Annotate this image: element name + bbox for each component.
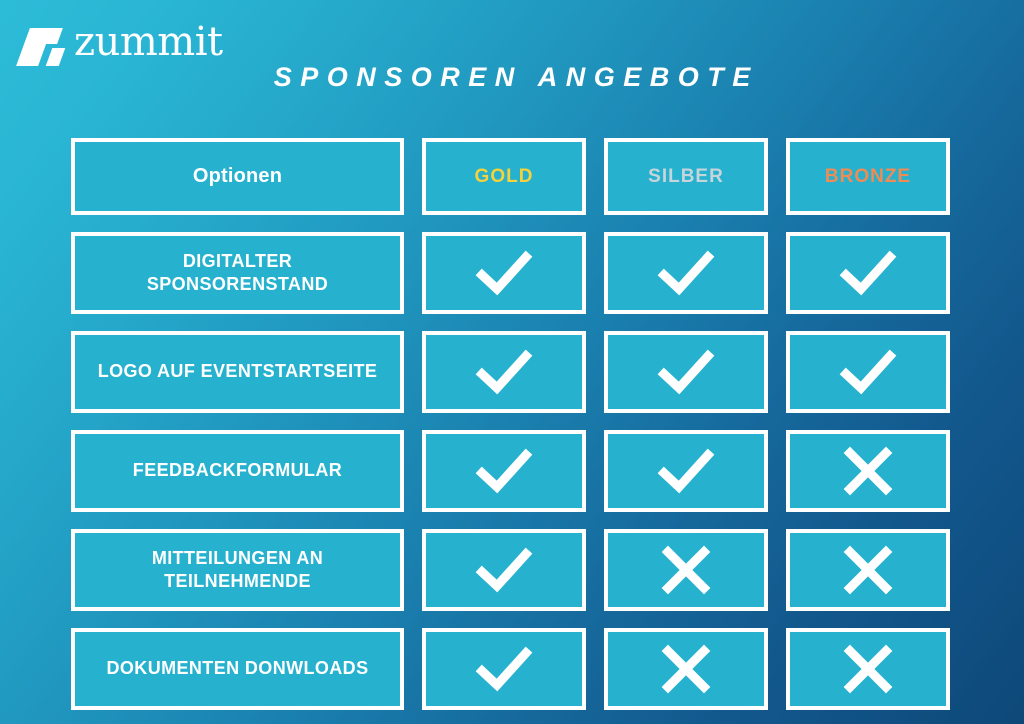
check-icon [473, 445, 535, 497]
availability-cell-gold[interactable] [422, 331, 586, 413]
check-icon [655, 346, 717, 398]
availability-cell-bronze[interactable] [786, 529, 950, 611]
header-label-bronze: BRONZE [825, 166, 911, 188]
table-row: LOGO AUF EVENTSTARTSEITE [71, 331, 978, 413]
check-icon [655, 247, 717, 299]
sponsor-offers-slide: zummit SPONSOREN ANGEBOTE OptionenGOLDSI… [0, 0, 1024, 724]
page-title: SPONSOREN ANGEBOTE [0, 62, 1024, 93]
check-icon [473, 247, 535, 299]
feature-label: FEEDBACKFORMULAR [123, 459, 352, 482]
availability-cell-silber[interactable] [604, 232, 768, 314]
cross-icon [837, 544, 899, 596]
feature-label-cell[interactable]: MITTEILUNGEN ANTEILNEHMENDE [71, 529, 404, 611]
check-icon [473, 544, 535, 596]
table-row: FEEDBACKFORMULAR [71, 430, 978, 512]
check-icon [473, 346, 535, 398]
header-cell-gold[interactable]: GOLD [422, 138, 586, 215]
header-label-gold: GOLD [475, 166, 534, 188]
availability-cell-bronze[interactable] [786, 331, 950, 413]
availability-cell-gold[interactable] [422, 628, 586, 710]
availability-cell-bronze[interactable] [786, 232, 950, 314]
check-icon [655, 445, 717, 497]
table-row: DIGITALTERSPONSORENSTAND [71, 232, 978, 314]
table-row: DOKUMENTEN DONWLOADS [71, 628, 978, 710]
feature-label-cell[interactable]: DIGITALTERSPONSORENSTAND [71, 232, 404, 314]
feature-label-cell[interactable]: LOGO AUF EVENTSTARTSEITE [71, 331, 404, 413]
table-header-row: OptionenGOLDSILBERBRONZE [71, 138, 978, 215]
header-label-silber: SILBER [648, 166, 724, 188]
zummit-z-logo-icon [22, 20, 68, 66]
availability-cell-silber[interactable] [604, 430, 768, 512]
header-cell-option[interactable]: Optionen [71, 138, 404, 215]
availability-cell-gold[interactable] [422, 529, 586, 611]
header-cell-bronze[interactable]: BRONZE [786, 138, 950, 215]
cross-icon [837, 445, 899, 497]
pricing-table: OptionenGOLDSILBERBRONZEDIGITALTERSPONSO… [71, 138, 978, 710]
check-icon [473, 643, 535, 695]
feature-label: LOGO AUF EVENTSTARTSEITE [88, 360, 388, 383]
brand-wordmark: zummit [74, 22, 223, 64]
availability-cell-bronze[interactable] [786, 430, 950, 512]
availability-cell-silber[interactable] [604, 628, 768, 710]
header-cell-silber[interactable]: SILBER [604, 138, 768, 215]
table-row: MITTEILUNGEN ANTEILNEHMENDE [71, 529, 978, 611]
feature-label: DOKUMENTEN DONWLOADS [97, 657, 379, 680]
check-icon [837, 346, 899, 398]
cross-icon [655, 643, 717, 695]
cross-icon [655, 544, 717, 596]
availability-cell-silber[interactable] [604, 529, 768, 611]
check-icon [837, 247, 899, 299]
feature-label: MITTEILUNGEN ANTEILNEHMENDE [142, 547, 333, 593]
header-label-option: Optionen [193, 165, 282, 188]
feature-label: DIGITALTERSPONSORENSTAND [137, 250, 338, 296]
feature-label-cell[interactable]: DOKUMENTEN DONWLOADS [71, 628, 404, 710]
cross-icon [837, 643, 899, 695]
availability-cell-gold[interactable] [422, 232, 586, 314]
availability-cell-bronze[interactable] [786, 628, 950, 710]
availability-cell-silber[interactable] [604, 331, 768, 413]
availability-cell-gold[interactable] [422, 430, 586, 512]
feature-label-cell[interactable]: FEEDBACKFORMULAR [71, 430, 404, 512]
